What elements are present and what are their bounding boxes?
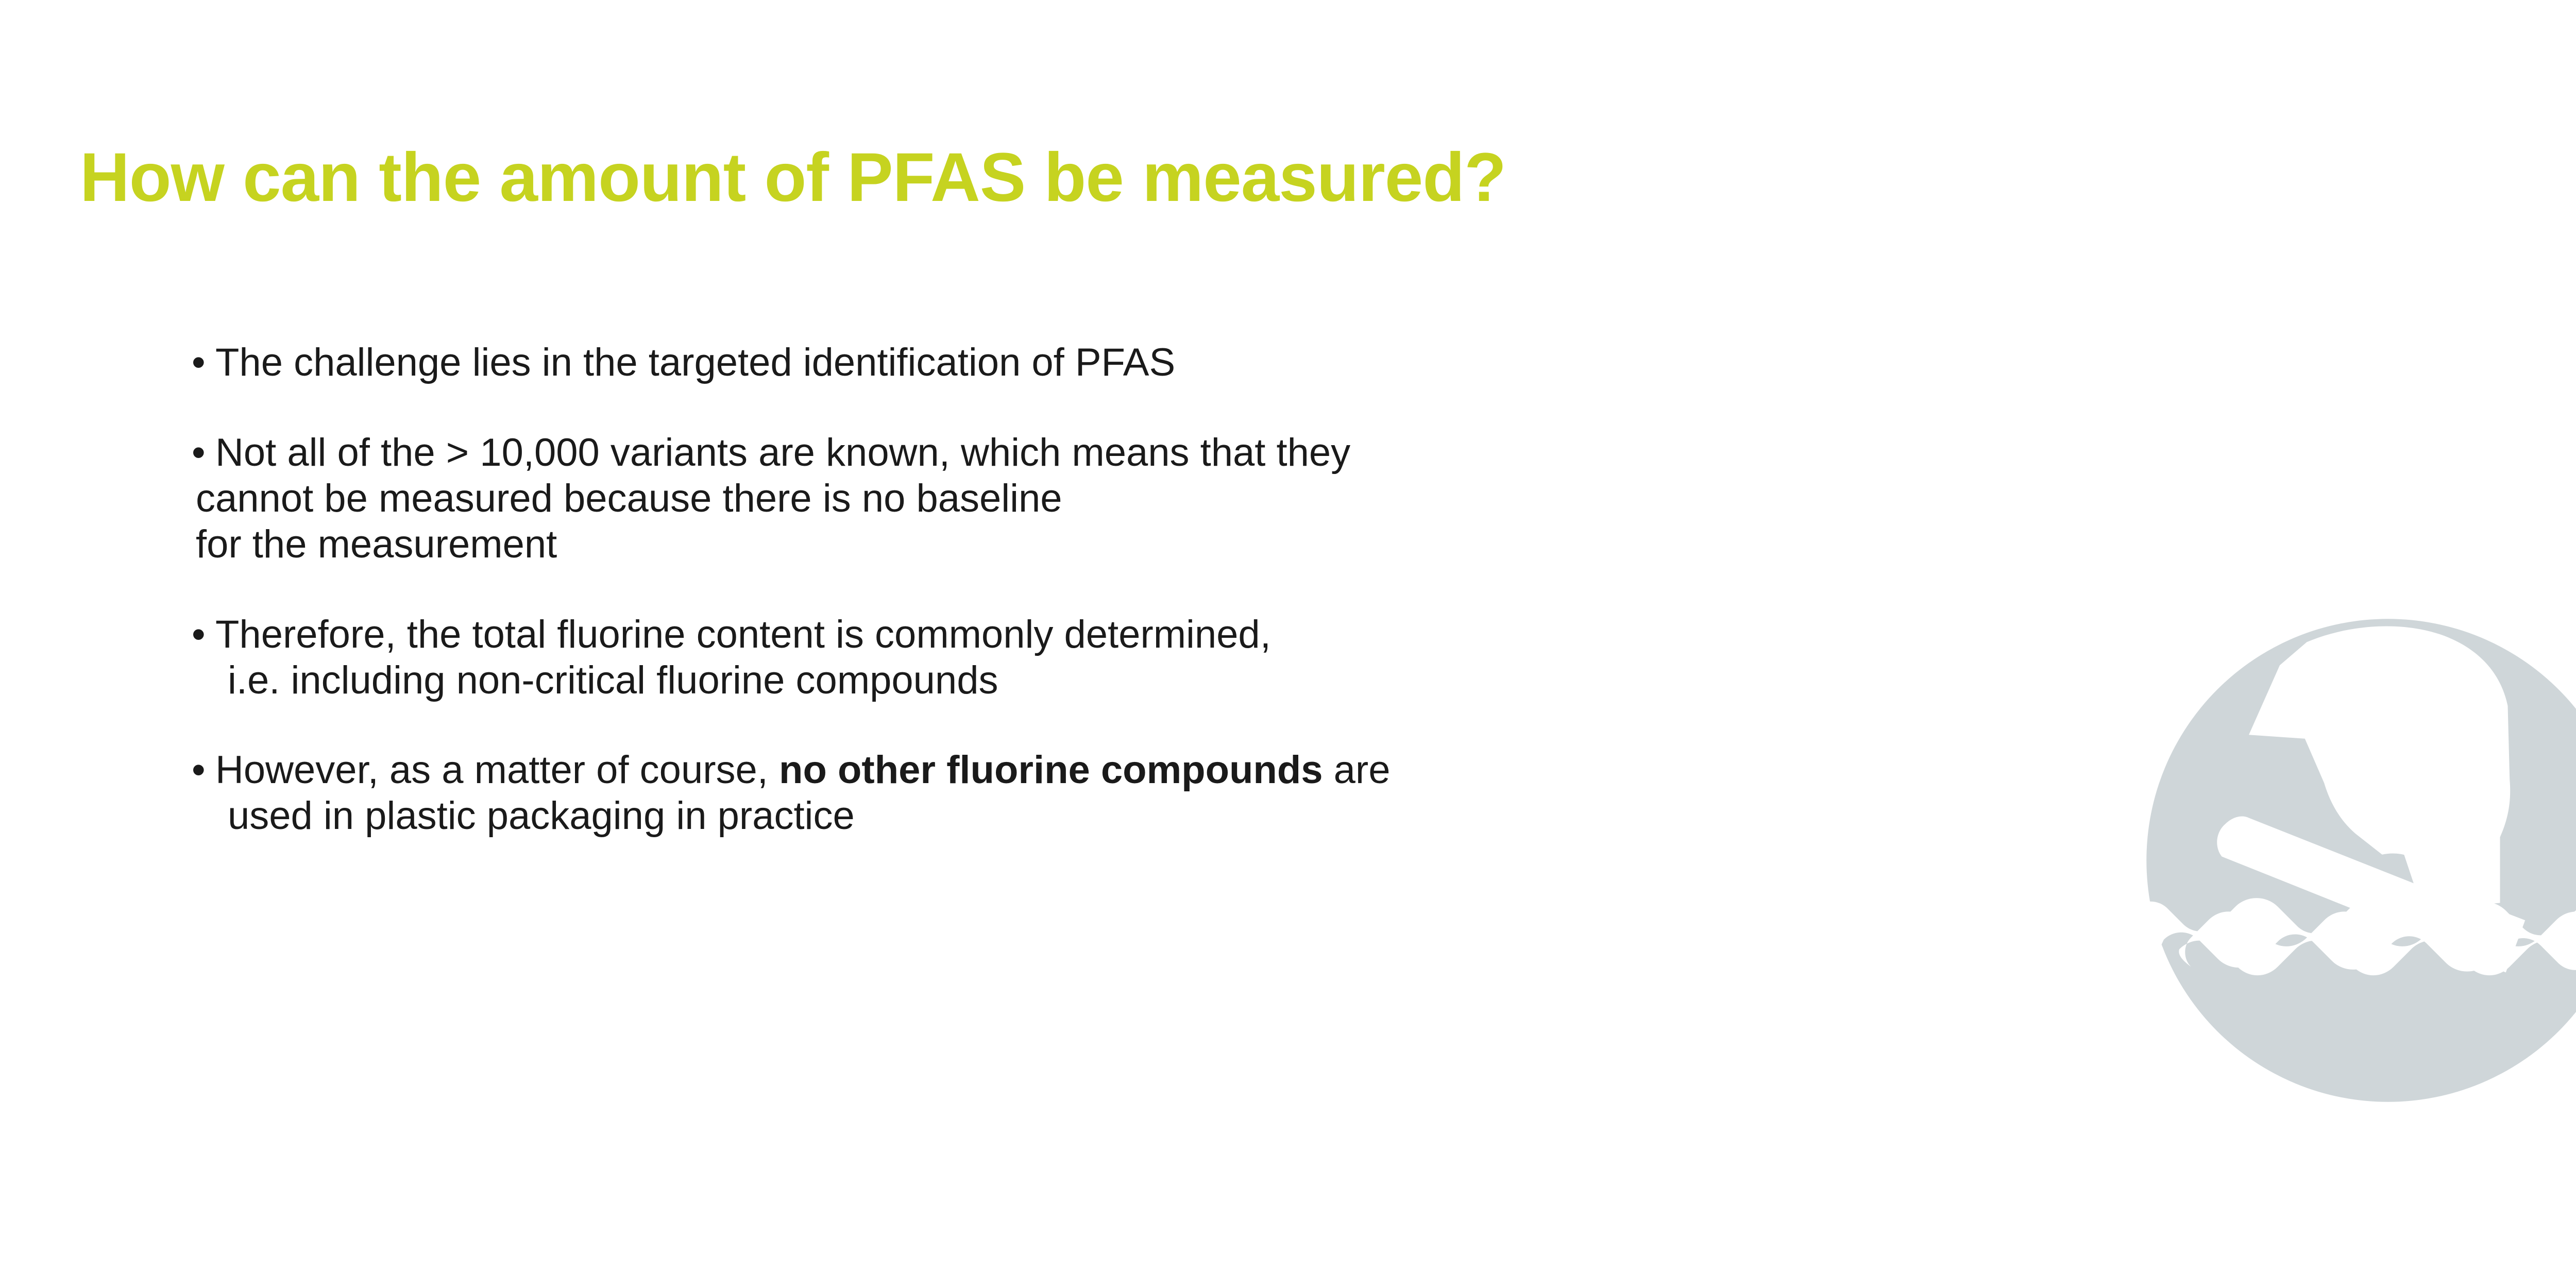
list-item: •Therefore, the total fluorine content i… (192, 612, 1995, 704)
bullet-marker: • (192, 430, 215, 476)
list-item-line: for the measurement (192, 522, 1995, 568)
page-number-badge-inner: 4/5 (2566, 0, 2576, 166)
page-number-badge: 4/5 (2566, 0, 2576, 166)
page-title: How can the amount of PFAS be measured? (80, 138, 1506, 217)
list-item: •The challenge lies in the targeted iden… (192, 340, 1995, 386)
list-item-line-pre: However, as a matter of course, (215, 748, 779, 792)
hand-dipping-test-strip-in-water-icon (2141, 613, 2576, 1108)
bullet-marker: • (192, 748, 215, 793)
list-item-emphasis: no other fluorine compounds (779, 748, 1323, 792)
list-item-line: Not all of the > 10,000 variants are kno… (215, 431, 1350, 474)
bullet-list: •The challenge lies in the targeted iden… (192, 340, 1995, 839)
slide: 4/5 How can the amount of PFAS be measur… (0, 0, 2576, 1288)
list-item-line: used in plastic packaging in practice (192, 793, 1995, 839)
bullet-marker: • (192, 340, 215, 386)
list-item: •However, as a matter of course, no othe… (192, 748, 1995, 839)
bullet-marker: • (192, 612, 215, 658)
list-item-line: Therefore, the total fluorine content is… (215, 613, 1271, 656)
list-item-line: i.e. including non-critical fluorine com… (192, 658, 1995, 704)
list-item-line-post: are (1323, 748, 1391, 792)
list-item: •Not all of the > 10,000 variants are kn… (192, 430, 1995, 568)
list-item-line: The challenge lies in the targeted ident… (215, 341, 1175, 384)
list-item-line: cannot be measured because there is no b… (192, 476, 1995, 522)
